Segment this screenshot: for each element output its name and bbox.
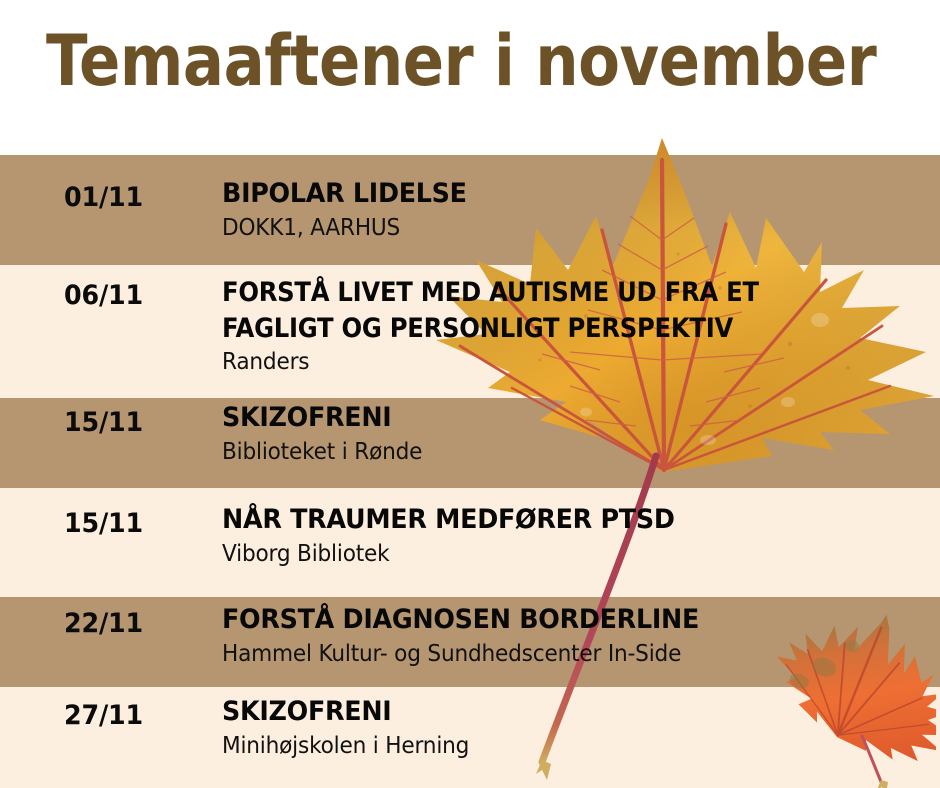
event-date: 15/11 xyxy=(64,407,143,438)
event-list: 01/11BIPOLAR LIDELSEDOKK1, AARHUS06/11FO… xyxy=(0,0,940,788)
event-date: 01/11 xyxy=(64,182,143,213)
event-body: NÅR TRAUMER MEDFØRER PTSDViborg Bibliote… xyxy=(222,502,930,570)
event-row: 22/11FORSTÅ DIAGNOSEN BORDERLINEHammel K… xyxy=(0,597,940,687)
event-body: SKIZOFRENIBiblioteket i Rønde xyxy=(222,400,930,468)
event-location: DOKK1, AARHUS xyxy=(222,214,888,244)
event-title: SKIZOFRENI xyxy=(222,694,888,730)
event-title: FORSTÅ LIVET MED AUTISME UD FRA ET FAGLI… xyxy=(222,275,859,346)
event-row: 15/11SKIZOFRENIBiblioteket i Rønde xyxy=(0,398,940,488)
event-row: 27/11SKIZOFRENIMinihøjskolen i Herning xyxy=(0,687,940,788)
event-location: Hammel Kultur- og Sundhedscenter In-Side xyxy=(222,640,888,670)
event-location: Minihøjskolen i Herning xyxy=(222,732,888,762)
event-row: 15/11NÅR TRAUMER MEDFØRER PTSDViborg Bib… xyxy=(0,488,940,597)
event-body: FORSTÅ LIVET MED AUTISME UD FRA ET FAGLI… xyxy=(222,275,930,378)
event-row: 01/11BIPOLAR LIDELSEDOKK1, AARHUS xyxy=(0,155,940,265)
event-title: NÅR TRAUMER MEDFØRER PTSD xyxy=(222,502,888,538)
event-title: BIPOLAR LIDELSE xyxy=(222,176,888,212)
poster-canvas: Temaaftener i november 01/11BIPOLAR LIDE… xyxy=(0,0,940,788)
event-date: 27/11 xyxy=(64,700,143,731)
event-body: FORSTÅ DIAGNOSEN BORDERLINEHammel Kultur… xyxy=(222,602,930,670)
event-title: FORSTÅ DIAGNOSEN BORDERLINE xyxy=(222,602,888,638)
event-date: 06/11 xyxy=(64,280,143,311)
event-body: SKIZOFRENIMinihøjskolen i Herning xyxy=(222,694,930,762)
event-date: 22/11 xyxy=(64,608,143,639)
event-title: SKIZOFRENI xyxy=(222,400,888,436)
event-body: BIPOLAR LIDELSEDOKK1, AARHUS xyxy=(222,176,930,244)
event-location: Randers xyxy=(222,348,888,378)
event-date: 15/11 xyxy=(64,508,143,539)
event-row: 06/11FORSTÅ LIVET MED AUTISME UD FRA ET … xyxy=(0,265,940,398)
event-location: Viborg Bibliotek xyxy=(222,540,888,570)
event-location: Biblioteket i Rønde xyxy=(222,438,888,468)
